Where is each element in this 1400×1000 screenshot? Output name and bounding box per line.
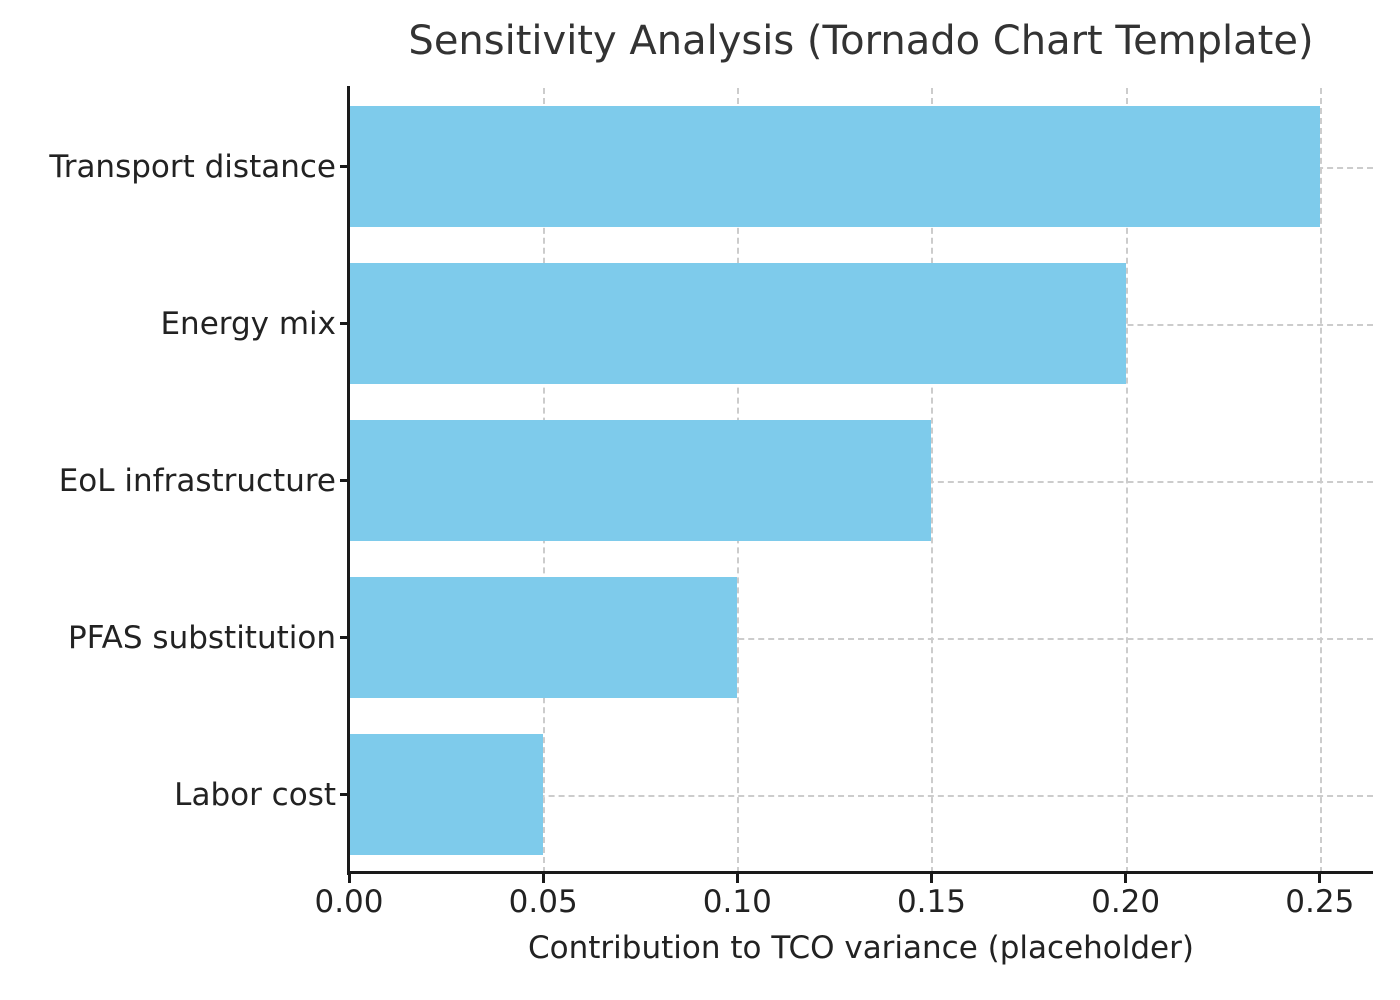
y-tick-label: PFAS substitution <box>68 620 336 656</box>
x-tick-label: 0.15 <box>897 884 966 920</box>
x-axis-title: Contribution to TCO variance (placeholde… <box>349 930 1373 966</box>
x-tick-label: 0.25 <box>1285 884 1354 920</box>
bar[interactable] <box>349 106 1320 227</box>
x-tick-mark <box>542 873 545 883</box>
y-axis-spine <box>347 86 350 875</box>
x-tick-label: 0.05 <box>509 884 578 920</box>
x-tick-label: 0.20 <box>1091 884 1160 920</box>
x-tick-label: 0.00 <box>314 884 383 920</box>
bar[interactable] <box>349 263 1126 384</box>
chart-title: Sensitivity Analysis (Tornado Chart Temp… <box>349 18 1373 64</box>
x-tick-label: 0.10 <box>703 884 772 920</box>
plot-area <box>349 88 1373 873</box>
bar[interactable] <box>349 577 737 698</box>
y-tick-label: Labor cost <box>174 777 336 813</box>
y-tick-label: Transport distance <box>49 149 336 185</box>
bar[interactable] <box>349 734 543 855</box>
x-tick-mark <box>1318 873 1321 883</box>
x-tick-mark <box>1124 873 1127 883</box>
x-tick-mark <box>736 873 739 883</box>
x-tick-mark <box>930 873 933 883</box>
y-tick-label: EoL infrastructure <box>59 463 336 499</box>
x-axis-spine <box>347 871 1373 874</box>
chart-figure: Sensitivity Analysis (Tornado Chart Temp… <box>0 0 1400 1000</box>
bar[interactable] <box>349 420 931 541</box>
y-tick-label: Energy mix <box>160 306 336 342</box>
